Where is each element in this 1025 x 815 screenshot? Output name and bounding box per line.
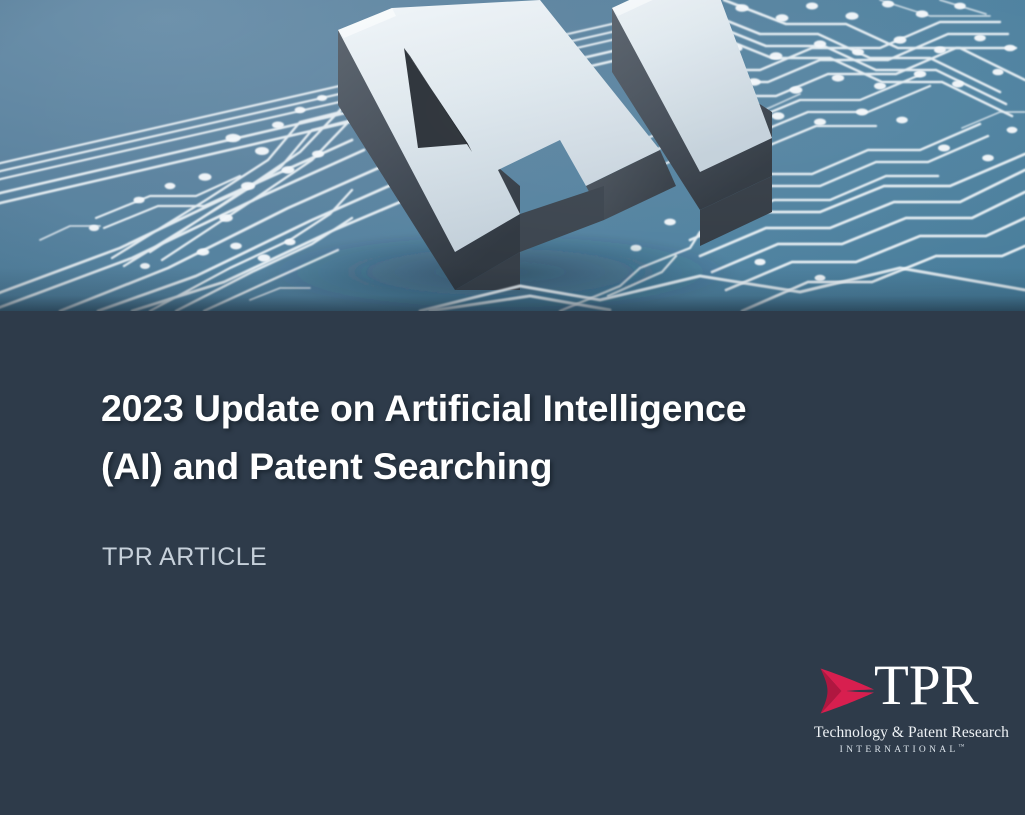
tpr-tagline: Technology & Patent Research — [814, 724, 990, 742]
hero-banner-image — [0, 0, 1025, 311]
tpr-logo-primary: TPR — [818, 661, 984, 723]
tpr-wordmark: TPR — [874, 655, 979, 717]
article-cover-page: 2023 Update on Artificial Intelligence (… — [0, 0, 1025, 815]
tpr-sub-tagline-text: INTERNATIONAL — [840, 745, 959, 755]
tpr-sub-tagline: INTERNATIONAL™ — [814, 744, 990, 755]
page-title: 2023 Update on Artificial Intelligence (… — [101, 379, 891, 495]
tpr-logo[interactable]: TPR Technology & Patent Research INTERNA… — [818, 661, 984, 764]
page-subtitle: TPR ARTICLE — [102, 542, 267, 572]
circuit-board-illustration — [0, 0, 1025, 311]
trademark-symbol: ™ — [959, 744, 965, 750]
page-title-line-2: (AI) and Patent Searching — [101, 445, 552, 487]
tpr-arrowhead-icon — [818, 665, 876, 717]
page-title-line-1: 2023 Update on Artificial Intelligence — [101, 387, 746, 429]
